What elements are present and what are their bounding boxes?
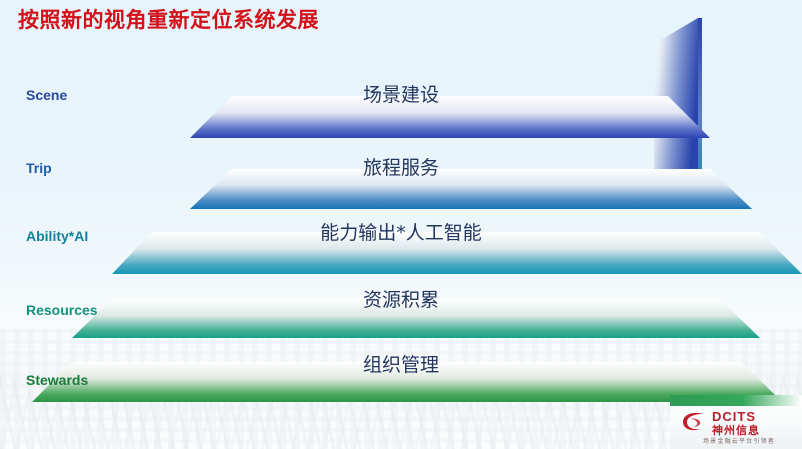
side-label-scene: Scene [26,87,67,103]
side-label-trip: Trip [26,160,52,176]
side-label-resources: Resources [26,302,98,318]
pyramid-layer-scene[interactable]: 场景建设 [0,78,802,156]
pyramid-stack: 场景建设 旅程服务 [0,0,802,449]
logo-green-band [670,395,802,406]
dcits-logo[interactable]: DCITS 神州信息 场景金融云平台引领者 [670,395,802,449]
logo-swirl-icon [681,411,707,433]
side-label-stewards: Stewards [26,372,88,388]
slide-canvas: 按照新的视角重新定位系统发展 [0,0,802,449]
side-label-ability: Ability*AI [26,228,88,244]
logo-tagline: 场景金融云平台引领者 [684,436,794,445]
